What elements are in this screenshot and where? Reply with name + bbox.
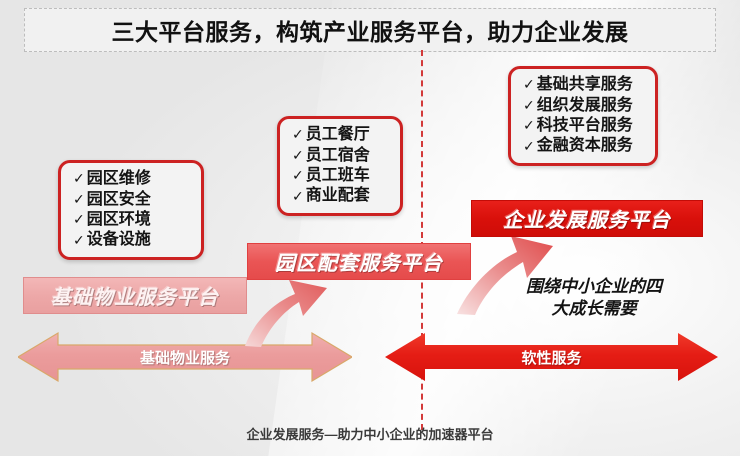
list-item-label: 组织发展服务: [537, 96, 633, 116]
list-item-label: 园区维修: [87, 169, 151, 189]
check-icon: ✓: [292, 147, 304, 165]
list-item-label: 科技平台服务: [537, 116, 633, 136]
slide-title-box: 三大平台服务，构筑产业服务平台，助力企业发展: [24, 8, 716, 52]
list-item: ✓ 基础共享服务: [523, 75, 645, 95]
list-item-label: 金融资本服务: [537, 136, 633, 156]
platform-bar-basic-property-label: 基础物业服务平台: [51, 281, 219, 310]
check-icon: ✓: [523, 117, 535, 135]
check-icon: ✓: [523, 76, 535, 94]
slide-canvas: 三大平台服务，构筑产业服务平台，助力企业发展 基础物业服务: [0, 0, 740, 456]
list-item: ✓ 员工宿舍: [292, 146, 390, 166]
list-item: ✓ 金融资本服务: [523, 136, 645, 156]
check-icon: ✓: [523, 138, 535, 156]
bottom-arrow-soft-service: [385, 331, 718, 383]
list-item: ✓ 园区环境: [73, 210, 191, 230]
list-item: ✓ 设备设施: [73, 230, 191, 250]
platform-bar-enterprise-development[interactable]: 企业发展服务平台: [471, 200, 703, 237]
check-icon: ✓: [73, 211, 85, 229]
slide-caption: 企业发展服务—助力中小企业的加速器平台: [0, 424, 740, 443]
check-icon: ✓: [292, 167, 304, 185]
checklist-card-park-support: ✓ 员工餐厅 ✓ 员工宿舍 ✓ 员工班车 ✓ 商业配套: [277, 116, 403, 216]
list-item: ✓ 园区维修: [73, 169, 191, 189]
check-icon: ✓: [73, 232, 85, 250]
list-item-label: 商业配套: [306, 186, 370, 206]
platform-bar-park-support[interactable]: 园区配套服务平台: [247, 243, 471, 280]
list-item-label: 园区环境: [87, 210, 151, 230]
check-icon: ✓: [523, 97, 535, 115]
page-title: 三大平台服务，构筑产业服务平台，助力企业发展: [112, 13, 629, 47]
platform-bar-basic-property[interactable]: 基础物业服务平台: [23, 277, 247, 314]
list-item-label: 员工班车: [306, 166, 370, 186]
list-item-label: 园区安全: [87, 190, 151, 210]
list-item-label: 员工餐厅: [306, 125, 370, 145]
checklist-card-basic-property: ✓ 园区维修 ✓ 园区安全 ✓ 园区环境 ✓ 设备设施: [58, 160, 204, 260]
growth-needs-note-line1: 围绕中小企业的四: [506, 276, 682, 298]
list-item-label: 设备设施: [87, 230, 151, 250]
list-item: ✓ 科技平台服务: [523, 116, 645, 136]
list-item: ✓ 商业配套: [292, 186, 390, 206]
list-item: ✓ 园区安全: [73, 190, 191, 210]
platform-bar-enterprise-development-label: 企业发展服务平台: [503, 204, 671, 233]
growth-needs-note: 围绕中小企业的四 大成长需要: [506, 276, 682, 321]
check-icon: ✓: [292, 188, 304, 206]
bottom-arrow-basic-property: [18, 331, 352, 383]
list-item: ✓ 员工班车: [292, 166, 390, 186]
check-icon: ✓: [73, 170, 85, 188]
list-item: ✓ 组织发展服务: [523, 96, 645, 116]
list-item: ✓ 员工餐厅: [292, 125, 390, 145]
list-item-label: 基础共享服务: [537, 75, 633, 95]
platform-bar-park-support-label: 园区配套服务平台: [275, 247, 443, 276]
checklist-card-enterprise-development: ✓ 基础共享服务 ✓ 组织发展服务 ✓ 科技平台服务 ✓ 金融资本服务: [508, 66, 658, 166]
check-icon: ✓: [73, 191, 85, 209]
list-item-label: 员工宿舍: [306, 146, 370, 166]
growth-needs-note-line2: 大成长需要: [506, 298, 682, 320]
check-icon: ✓: [292, 126, 304, 144]
